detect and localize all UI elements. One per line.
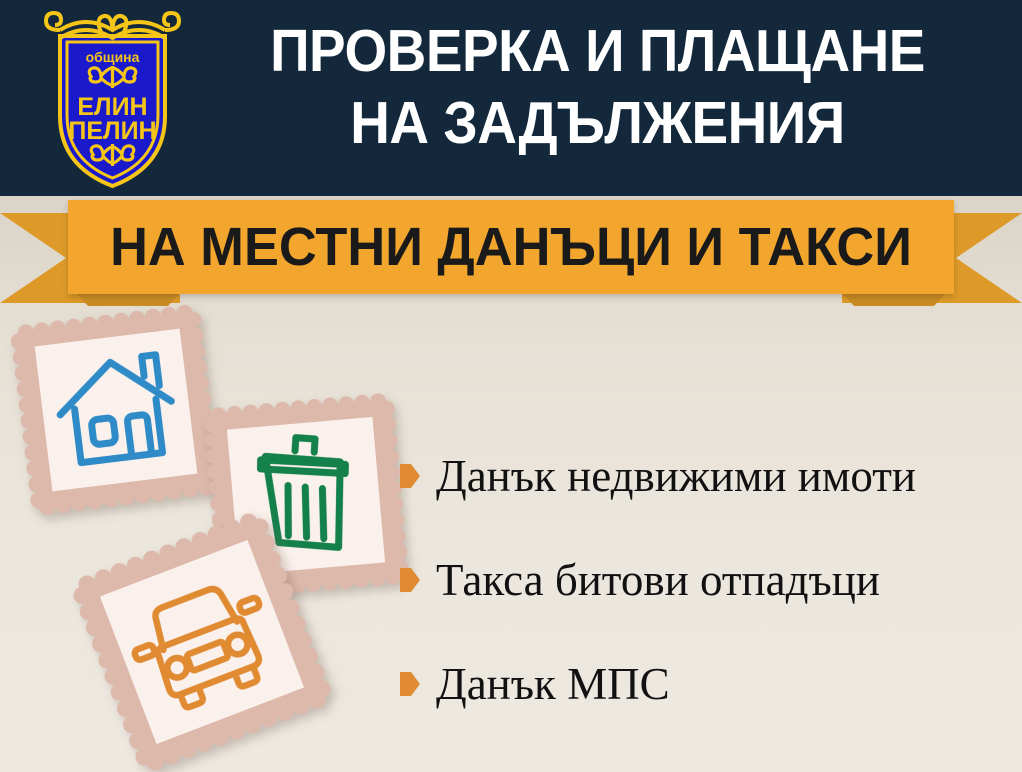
service-list: Данък недвижими имоти Такса битови отпад… bbox=[400, 424, 1000, 736]
stamp-paper bbox=[35, 329, 198, 492]
ribbon-subtitle: НА МЕСТНИ ДАНЪЦИ И ТАКСИ bbox=[81, 216, 940, 278]
ribbon-banner: НА МЕСТНИ ДАНЪЦИ И ТАКСИ bbox=[0, 196, 1022, 308]
bullet-arrow-icon bbox=[400, 464, 420, 488]
logo-text-name-2: ПЕЛИН bbox=[68, 117, 156, 145]
bullet-arrow-icon bbox=[400, 672, 420, 696]
ribbon-bar: НА МЕСТНИ ДАНЪЦИ И ТАКСИ bbox=[68, 200, 954, 294]
logo-text-municipality: община bbox=[86, 49, 140, 65]
page-title: ПРОВЕРКА И ПЛАЩАНЕ НА ЗАДЪЛЖЕНИЯ bbox=[219, 16, 977, 160]
stamp-card-property bbox=[7, 301, 225, 519]
bullet-arrow-icon bbox=[400, 568, 420, 592]
coat-of-arms-icon: община ЕЛИН ПЕЛИН bbox=[40, 8, 185, 190]
poster-canvas: ПРОВЕРКА И ПЛАЩАНЕ НА ЗАДЪЛЖЕНИЯ община bbox=[0, 0, 1022, 772]
list-item-label: Данък МПС bbox=[436, 662, 670, 707]
list-item[interactable]: Такса битови отпадъци bbox=[400, 528, 1000, 632]
list-item-label: Такса битови отпадъци bbox=[436, 558, 880, 603]
list-item-label: Данък недвижими имоти bbox=[436, 454, 916, 499]
list-item[interactable]: Данък недвижими имоти bbox=[400, 424, 1000, 528]
list-item[interactable]: Данък МПС bbox=[400, 632, 1000, 736]
